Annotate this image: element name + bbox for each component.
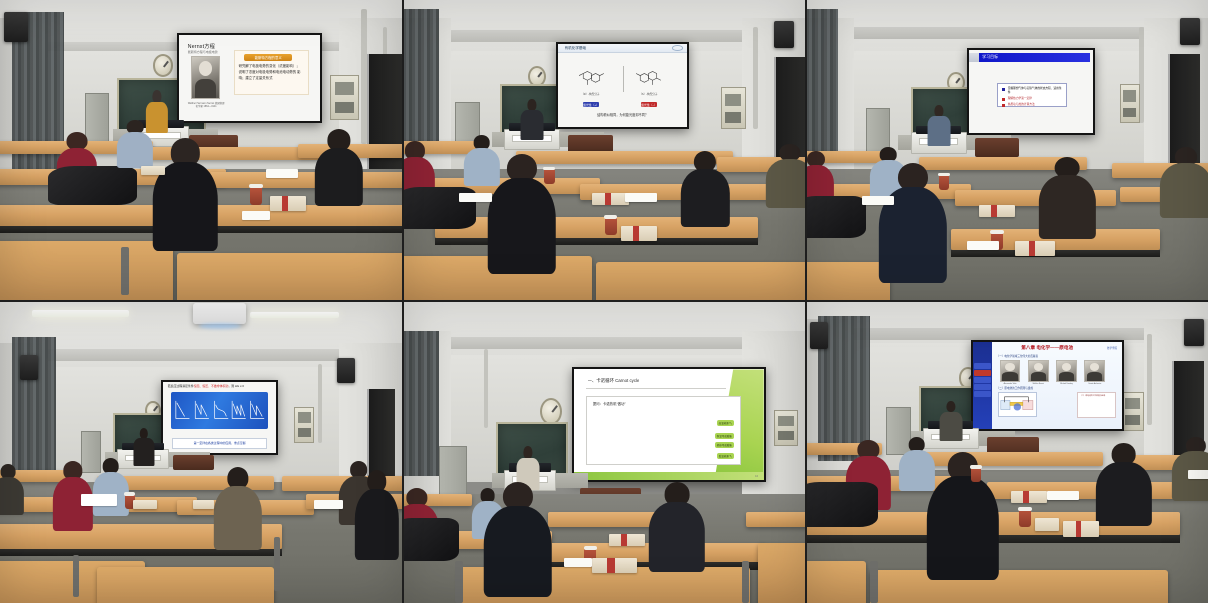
wooden-bench <box>975 138 1019 156</box>
slide-content-card: 提问：卡诺热机“做功” 高温热源 T₂ 恒温可逆膨胀 绝热可逆膨胀 低温热源 T… <box>586 396 741 465</box>
galvanic-cell-diagram <box>998 392 1037 416</box>
seat-back <box>97 567 274 603</box>
projection-screen: 第八章 电化学——原电池 化学学院 （一）电化学领域三位伟大的贡献者 Aless… <box>971 340 1124 431</box>
lunch-box <box>1063 521 1099 536</box>
slide-surface: 学习目标 掌握理想气体与实际气体的状态方程、适用条件 理解热力学第一定律 熟悉功… <box>969 50 1094 133</box>
audience-member <box>1039 157 1095 235</box>
objectives-box: 掌握理想气体与实际气体的状态方程、适用条件 理解热力学第一定律 熟悉功与热的计算… <box>997 83 1067 106</box>
wall-speaker-icon <box>1184 319 1204 346</box>
portrait-caption: Walther Nernst <box>1026 383 1050 385</box>
slide-title: 第八章 电化学——原电池 <box>997 345 1098 351</box>
audience-member <box>649 482 705 567</box>
coffee-cup <box>1019 509 1031 527</box>
paper-sheet <box>967 241 999 250</box>
scientist-portrait <box>1056 360 1077 383</box>
wall-conduit <box>484 349 488 428</box>
photo-panel-bottom-left[interactable]: 若反应过程满足条件恒温、恒压、不做非体积功，则 ΔG ≤ 0 <box>0 301 403 603</box>
projection-screen: Nernst方程 能斯特方程与电极电势 Walther Hermann Nern… <box>177 33 322 123</box>
slide-title-rule <box>586 388 726 389</box>
sidebar-chip <box>974 384 990 389</box>
chair-frame <box>274 537 280 591</box>
ceiling-projector <box>193 303 245 324</box>
audience-member <box>766 144 806 204</box>
audience-member <box>314 129 362 201</box>
portrait-caption: Michael Faraday <box>1055 383 1079 385</box>
photo-panel-bottom-right[interactable]: 第八章 电化学——原电池 化学学院 （一）电化学领域三位伟大的贡献者 Aless… <box>806 301 1208 603</box>
objective-item: 理解热力学第一定律 <box>1002 97 1062 101</box>
audience-member <box>355 470 399 555</box>
slide-corner-tab <box>969 53 979 62</box>
institution-logo-icon <box>672 45 684 51</box>
paper-sheet <box>242 211 270 220</box>
shoulders <box>117 132 153 168</box>
slide-title: 有机化学基础 <box>565 46 587 51</box>
graph-series-svg <box>171 392 268 429</box>
lunch-box <box>193 500 213 509</box>
photo-panel-top-center[interactable]: 有机化学基础 <box>403 0 806 301</box>
slide-header-bar: 学习目标 <box>979 53 1090 62</box>
objective-item: 掌握理想气体与实际气体的状态方程、适用条件 <box>1002 87 1062 95</box>
desk-row <box>210 172 403 189</box>
electrical-panel <box>774 410 798 446</box>
shoulders <box>488 178 557 274</box>
lunch-box <box>1011 491 1047 503</box>
electrical-panel <box>1122 392 1144 431</box>
shoulders <box>1095 462 1151 526</box>
shoulders <box>927 476 999 580</box>
photo-collage-grid: Nernst方程 能斯特方程与电极电势 Walther Hermann Nern… <box>0 0 1208 603</box>
wall-speaker-icon <box>4 12 28 42</box>
wall-clock-icon <box>540 398 562 425</box>
electrical-panel <box>294 407 314 443</box>
electrical-panel <box>721 87 745 129</box>
institution-logo: 化学学院 <box>1107 346 1117 350</box>
projection-screen: 学习目标 掌握理想气体与实际气体的状态方程、适用条件 理解热力学第一定律 熟悉功… <box>967 48 1096 135</box>
desk-row <box>746 512 806 527</box>
ceiling-light <box>32 310 129 317</box>
wall-speaker-icon <box>20 355 38 379</box>
slide-divider <box>623 66 624 93</box>
instructor-head <box>523 446 532 459</box>
wall-speaker-icon <box>810 322 828 349</box>
flow-step: 高温热源 T₂ <box>717 420 734 426</box>
slide-surface: 第八章 电化学——原电池 化学学院 （一）电化学领域三位伟大的贡献者 Aless… <box>973 342 1122 429</box>
audience-member <box>1095 443 1151 522</box>
lunch-box <box>133 500 157 509</box>
instructor-body <box>939 412 962 442</box>
paper-sheet <box>81 494 117 506</box>
electrical-panel <box>330 75 358 120</box>
instructor-body <box>134 438 155 466</box>
lunch-box <box>609 534 645 546</box>
scientist-portrait <box>1000 360 1021 383</box>
bullet-icon <box>1002 104 1005 107</box>
bullet-icon <box>1002 98 1005 101</box>
chair-frame <box>73 555 79 597</box>
property-chip-left: 旋光性（+） <box>583 102 600 107</box>
panel-seam-horizontal <box>0 300 1208 302</box>
projection-screen: 有机化学基础 <box>556 42 689 129</box>
sidebar-chip <box>974 377 990 382</box>
instructor-body <box>520 110 543 140</box>
wall-conduit <box>318 364 322 443</box>
audience-member <box>153 138 217 246</box>
coffee-cup <box>971 467 981 482</box>
audience-member <box>117 120 153 165</box>
structure-label-left: （R）-构型分子 <box>572 92 608 96</box>
slide-page-number: 10 <box>755 475 758 478</box>
shoulders <box>355 489 399 560</box>
window-curtain <box>403 331 439 476</box>
wall-conduit <box>753 27 758 129</box>
shoulders <box>153 162 217 251</box>
instructor-body <box>927 116 950 146</box>
seat-back <box>870 570 1167 603</box>
wall-speaker-icon <box>337 358 355 382</box>
portrait-caption: Alessandro Volta <box>998 383 1022 385</box>
lunch-box <box>1015 241 1055 256</box>
coat-on-desk <box>806 196 866 238</box>
lunch-box <box>592 193 628 205</box>
structure-label-right: （S）-构型分子 <box>630 92 666 96</box>
audience-member <box>878 163 946 277</box>
photo-panel-top-right[interactable]: 学习目标 掌握理想气体与实际气体的状态方程、适用条件 理解热力学第一定律 熟悉功… <box>806 0 1208 301</box>
shoulders <box>214 486 262 550</box>
photo-panel-bottom-center[interactable]: 一、卡诺循环 Carnot cycle 提问：卡诺热机“做功” 高温热源 T₂ … <box>403 301 806 603</box>
seat-back <box>0 241 173 301</box>
audience-member <box>484 482 553 591</box>
slide-footer-note: 第一定律在各类过程中的应用，重点掌握 <box>172 438 267 449</box>
lunch-box <box>1035 518 1059 530</box>
portrait-caption: Walther Hermann Nernst 德国物理化学家 1864—1941 <box>188 102 225 109</box>
wall-clock-icon <box>153 54 173 77</box>
slide-sidebar-nav <box>973 342 992 429</box>
flow-step: 恒温可逆膨胀 <box>715 433 734 439</box>
audience-member <box>927 452 999 573</box>
coffee-cup <box>605 217 617 235</box>
paper-sheet <box>564 558 592 567</box>
storage-cabinet <box>439 446 467 500</box>
slide-surface: 若反应过程满足条件恒温、恒压、不做非体积功，则 ΔG ≤ 0 <box>163 382 276 454</box>
slide-surface: 有机化学基础 <box>558 44 687 127</box>
shoulders <box>484 506 553 597</box>
instructor <box>520 99 544 138</box>
chair-frame <box>455 561 462 603</box>
paper-sheet <box>862 196 894 205</box>
window-curtain <box>806 9 838 160</box>
seat-back <box>806 561 866 603</box>
instructor <box>927 105 951 144</box>
objective-text: 熟悉功与热的计算方法 <box>1008 103 1035 107</box>
bullet-icon <box>1002 88 1005 91</box>
scientist-portrait <box>191 56 221 99</box>
paper-sheet <box>314 500 342 509</box>
electrical-panel <box>1120 84 1140 123</box>
chair-frame <box>742 561 749 603</box>
projection-screen: 一、卡诺循环 Carnot cycle 提问：卡诺热机“做功” 高温热源 T₂ … <box>572 367 765 482</box>
audience-member <box>1172 437 1208 497</box>
slide-banner: 能斯特方程的意义 <box>244 54 292 61</box>
audience-member <box>0 464 24 512</box>
slide-green-footer <box>574 472 763 480</box>
shoulders <box>1039 175 1095 239</box>
window-curtain <box>403 9 439 153</box>
sidebar-chip <box>974 363 990 368</box>
heading-part-after: ，则 ΔG ≤ 0 <box>228 384 244 388</box>
heading-part-before: 若反应过程满足条件 <box>168 384 194 388</box>
slide-body-text: 研究解了电极电势的变化（浓度影响）； 说明了浓度对电极电势和电池电动势的 影响；… <box>239 64 304 82</box>
slide-subheading-2: （二）原电池的工作原理与组成 <box>997 386 1033 390</box>
cell-diagram-svg <box>999 393 1036 415</box>
projection-screen: 若反应过程满足条件恒温、恒压、不做非体积功，则 ΔG ≤ 0 <box>161 380 278 456</box>
side-note-text: （二）原电池的工作原理与组成 <box>1080 395 1105 397</box>
instructor <box>133 428 155 464</box>
coat-on-desk <box>806 482 878 527</box>
instructor-head <box>153 90 162 103</box>
property-chip-right: 旋光性（−） <box>641 102 658 107</box>
audience-member <box>1160 147 1208 213</box>
slide-question: 提问：卡诺热机“做功” <box>593 401 626 406</box>
paper-sheet <box>459 193 491 202</box>
audience-member <box>681 151 729 223</box>
flow-step: 低温热源 T₁ <box>717 453 734 459</box>
objective-item: 熟悉功与热的计算方法 <box>1002 103 1062 107</box>
chair-frame <box>870 561 877 603</box>
lunch-box <box>592 558 636 573</box>
slide-header-bar: 有机化学基础 <box>558 44 687 53</box>
wall-speaker-icon <box>774 21 794 48</box>
slide-surface: Nernst方程 能斯特方程与电极电势 Walther Hermann Nern… <box>179 35 320 121</box>
wall-conduit <box>1147 334 1151 425</box>
lunch-box <box>979 205 1015 217</box>
slide-subheading-1: （一）电化学领域三位伟大的贡献者 <box>997 354 1039 358</box>
shoulders <box>314 148 362 206</box>
slide-heading: 若反应过程满足条件恒温、恒压、不做非体积功，则 ΔG ≤ 0 <box>168 384 272 388</box>
objective-text: 掌握理想气体与实际气体的状态方程、适用条件 <box>1008 87 1063 95</box>
coffee-cup <box>939 175 949 190</box>
coat-on-desk <box>403 518 459 560</box>
desk-edge <box>435 238 757 246</box>
ceiling-light <box>250 312 339 319</box>
wall-speaker-icon <box>1180 18 1200 45</box>
sidebar-chip <box>974 391 990 396</box>
scientist-portrait <box>1028 360 1049 383</box>
coat-on-desk <box>48 166 137 205</box>
paper-sheet <box>266 169 298 178</box>
wooden-bench <box>173 455 213 470</box>
paper-sheet <box>625 193 657 202</box>
seat-back <box>758 543 806 603</box>
seat-back <box>596 262 806 301</box>
lunch-box <box>621 226 657 241</box>
slide-subtitle: 能斯特方程与电极电势 <box>188 50 218 54</box>
photo-panel-top-left[interactable]: Nernst方程 能斯特方程与电极电势 Walther Hermann Nern… <box>0 0 403 301</box>
shoulders <box>649 502 705 571</box>
audience-member <box>214 467 262 546</box>
paper-sheet <box>1047 491 1079 500</box>
coffee-cup <box>250 187 262 205</box>
portrait-caption: Svante Arrhenius <box>1083 383 1107 385</box>
slide-title: 学习目标 <box>982 54 998 60</box>
shoulders <box>766 159 806 208</box>
flow-step: 绝热可逆膨胀 <box>715 442 734 448</box>
paper-sheet <box>1188 470 1208 479</box>
slide-title: 一、卡诺循环 Carnot cycle <box>588 378 640 384</box>
slide-side-note: （二）原电池的工作原理与组成 <box>1077 392 1116 418</box>
desk-edge <box>951 250 1160 258</box>
molecule-structure-left <box>576 67 607 90</box>
instructor <box>939 401 963 440</box>
molecule-svg <box>633 67 664 90</box>
seat-back <box>177 253 403 301</box>
shoulders <box>681 169 729 227</box>
shoulders <box>1160 163 1208 217</box>
molecule-structure-right <box>633 67 664 90</box>
shoulders <box>0 477 24 516</box>
slide-surface: 一、卡诺循环 Carnot cycle 提问：卡诺热机“做功” 高温热源 T₂ … <box>574 369 763 480</box>
coffee-cup <box>544 169 554 184</box>
lunch-box <box>141 166 165 175</box>
graph-panel <box>171 392 268 429</box>
molecule-svg <box>576 67 607 90</box>
scientist-portrait <box>1084 360 1105 383</box>
slide-footer-question: 结构看似相同，为何旋光度却不同？ <box>558 112 687 117</box>
objective-text: 理解热力学第一定律 <box>1008 97 1032 101</box>
heading-highlight: 恒温、恒压、不做非体积功 <box>194 384 229 388</box>
lunch-box <box>270 196 306 211</box>
sidebar-chip <box>974 370 990 375</box>
chair-frame <box>121 247 129 295</box>
